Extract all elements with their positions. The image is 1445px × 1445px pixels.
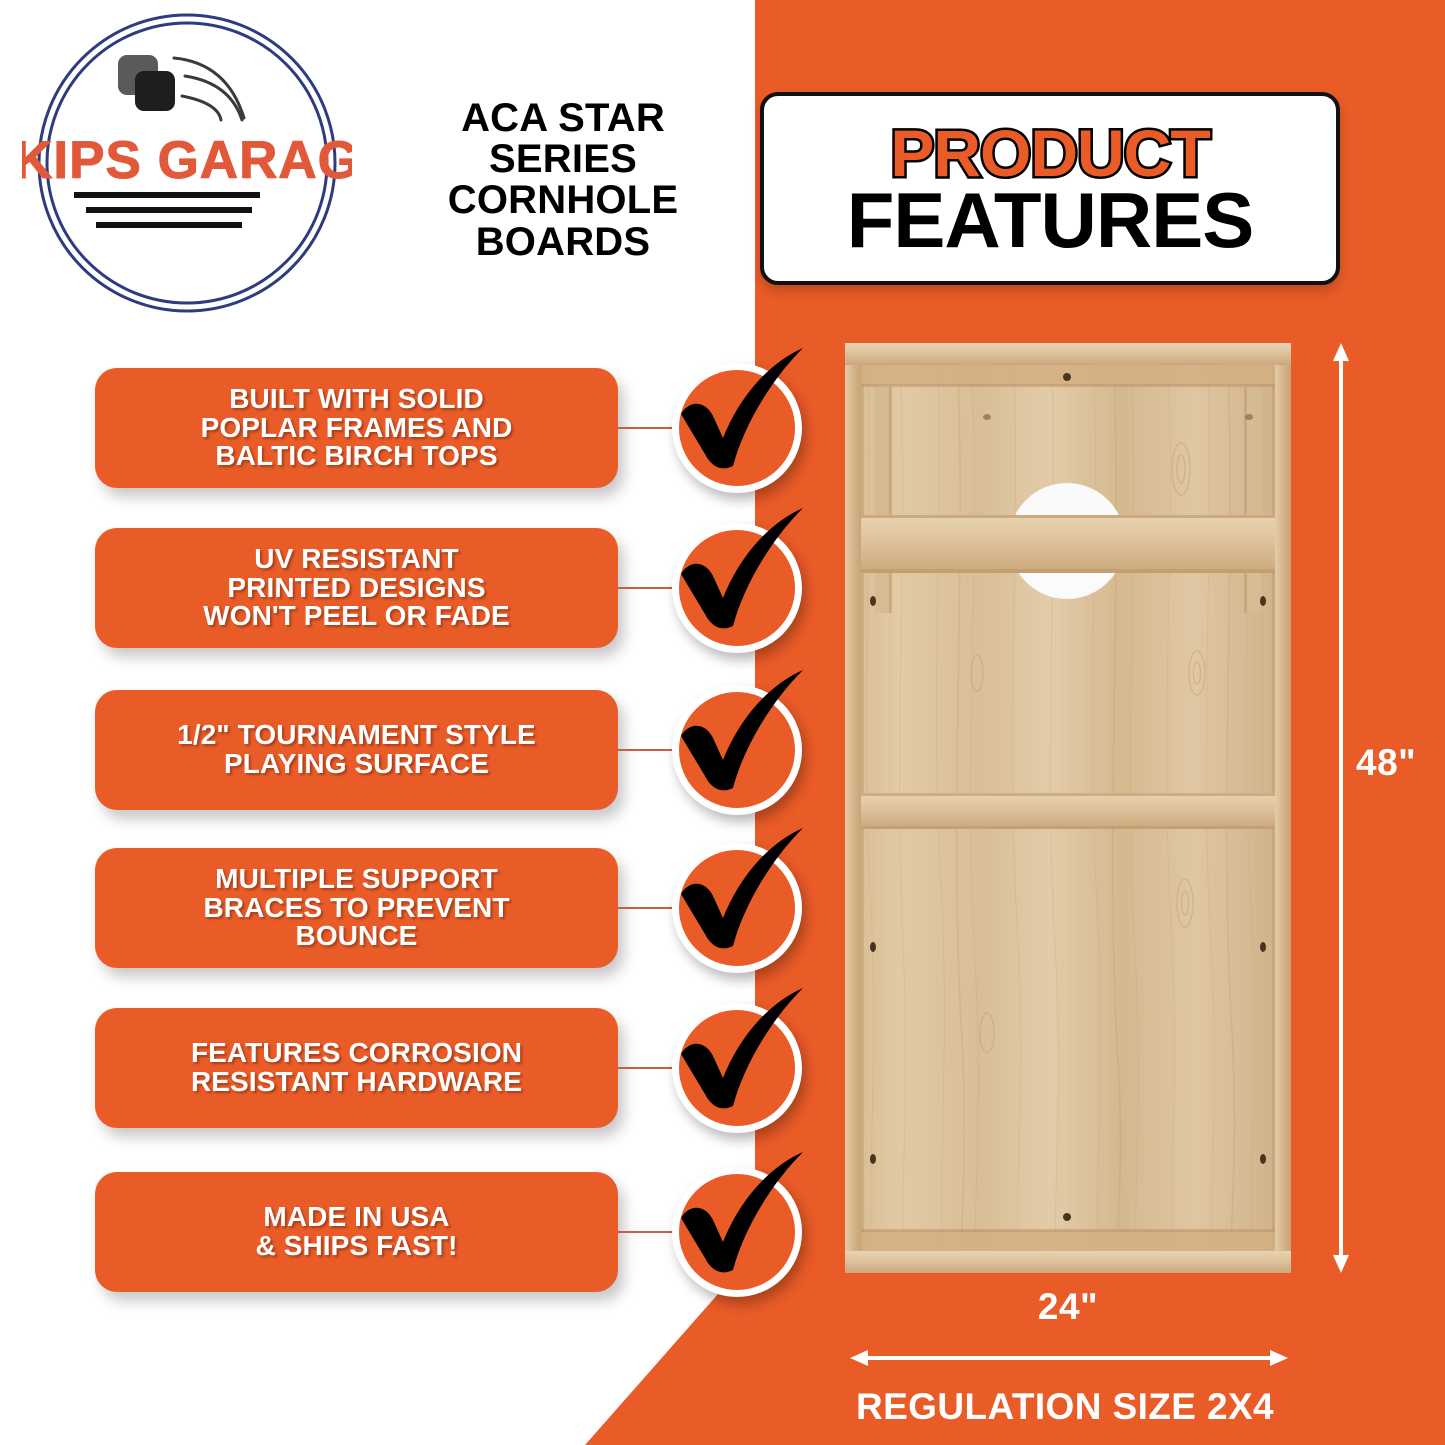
product-title-line-3: CORNHOLE (398, 180, 728, 221)
feature-pill-6: MADE IN USA & SHIPS FAST! (95, 1172, 618, 1292)
product-title-line-2: SERIES (398, 139, 728, 180)
height-dimension-label: 48" (1356, 742, 1416, 784)
feature-2-line-2: PRINTED DESIGNS (203, 574, 510, 603)
header-word-features: FEATURES (847, 182, 1254, 258)
feature-pill-3-text: 1/2" TOURNAMENT STYLE PLAYING SURFACE (177, 721, 536, 778)
feature-pill-2-text: UV RESISTANT PRINTED DESIGNS WON'T PEEL … (203, 545, 510, 631)
check-icon (663, 502, 813, 652)
check-icon (663, 822, 813, 972)
feature-row-4: MULTIPLE SUPPORT BRACES TO PREVENT BOUNC… (0, 848, 820, 968)
svg-text:SKIPS GARAGE: SKIPS GARAGE (22, 131, 352, 190)
feature-2-line-3: WON'T PEEL OR FADE (203, 602, 510, 631)
feature-check-badge-1 (672, 363, 802, 493)
feature-pill-5: FEATURES CORROSION RESISTANT HARDWARE (95, 1008, 618, 1128)
feature-check-badge-3 (672, 685, 802, 815)
feature-row-5: FEATURES CORROSION RESISTANT HARDWARE (0, 1008, 820, 1128)
feature-check-badge-2 (672, 523, 802, 653)
feature-1-line-1: BUILT WITH SOLID (201, 385, 513, 414)
height-dimension-arrow (1330, 343, 1352, 1273)
feature-4-line-2: BRACES TO PREVENT (203, 894, 509, 923)
page-title: ACA STAR SERIES CORNHOLE BOARDS (398, 98, 728, 263)
feature-5-line-2: RESISTANT HARDWARE (191, 1068, 522, 1097)
feature-row-1: BUILT WITH SOLID POPLAR FRAMES AND BALTI… (0, 368, 820, 488)
width-dimension-arrow (850, 1348, 1288, 1368)
feature-1-line-2: POPLAR FRAMES AND (201, 414, 513, 443)
width-dimension-label: 24" (845, 1286, 1291, 1328)
feature-4-line-1: MULTIPLE SUPPORT (203, 865, 509, 894)
feature-pill-4-text: MULTIPLE SUPPORT BRACES TO PREVENT BOUNC… (203, 865, 509, 951)
feature-6-line-2: & SHIPS FAST! (256, 1232, 458, 1261)
feature-pill-6-text: MADE IN USA & SHIPS FAST! (256, 1203, 458, 1260)
check-icon (663, 342, 813, 492)
feature-pill-2: UV RESISTANT PRINTED DESIGNS WON'T PEEL … (95, 528, 618, 648)
feature-pill-4: MULTIPLE SUPPORT BRACES TO PREVENT BOUNC… (95, 848, 618, 968)
feature-pill-1-text: BUILT WITH SOLID POPLAR FRAMES AND BALTI… (201, 385, 513, 471)
feature-row-2: UV RESISTANT PRINTED DESIGNS WON'T PEEL … (0, 528, 820, 648)
product-title-line-4: BOARDS (398, 222, 728, 263)
product-features-header: PRODUCT FEATURES (760, 92, 1340, 285)
feature-3-line-2: PLAYING SURFACE (177, 750, 536, 779)
logo-artwork: SKIPS GARAGE (22, 8, 352, 318)
feature-5-line-1: FEATURES CORROSION (191, 1039, 522, 1068)
feature-pill-3: 1/2" TOURNAMENT STYLE PLAYING SURFACE (95, 690, 618, 810)
cornhole-board-image (845, 343, 1291, 1273)
feature-check-badge-5 (672, 1003, 802, 1133)
cornhole-board-back-view (845, 343, 1291, 1273)
feature-4-line-3: BOUNCE (203, 922, 509, 951)
check-icon (663, 664, 813, 814)
feature-row-6: MADE IN USA & SHIPS FAST! (0, 1172, 820, 1292)
feature-6-line-1: MADE IN USA (256, 1203, 458, 1232)
horizontal-double-arrow-icon (850, 1348, 1288, 1368)
vertical-double-arrow-icon (1330, 343, 1352, 1273)
regulation-size-label: REGULATION SIZE 2X4 (805, 1386, 1325, 1428)
feature-2-line-1: UV RESISTANT (203, 545, 510, 574)
feature-check-badge-6 (672, 1167, 802, 1297)
check-icon (663, 982, 813, 1132)
brand-logo: SKIPS GARAGE (22, 8, 352, 318)
feature-pill-1: BUILT WITH SOLID POPLAR FRAMES AND BALTI… (95, 368, 618, 488)
feature-pill-5-text: FEATURES CORROSION RESISTANT HARDWARE (191, 1039, 522, 1096)
feature-check-badge-4 (672, 843, 802, 973)
feature-row-3: 1/2" TOURNAMENT STYLE PLAYING SURFACE (0, 690, 820, 810)
feature-1-line-3: BALTIC BIRCH TOPS (201, 442, 513, 471)
feature-3-line-1: 1/2" TOURNAMENT STYLE (177, 721, 536, 750)
check-icon (663, 1146, 813, 1296)
product-title-line-1: ACA STAR (398, 98, 728, 139)
